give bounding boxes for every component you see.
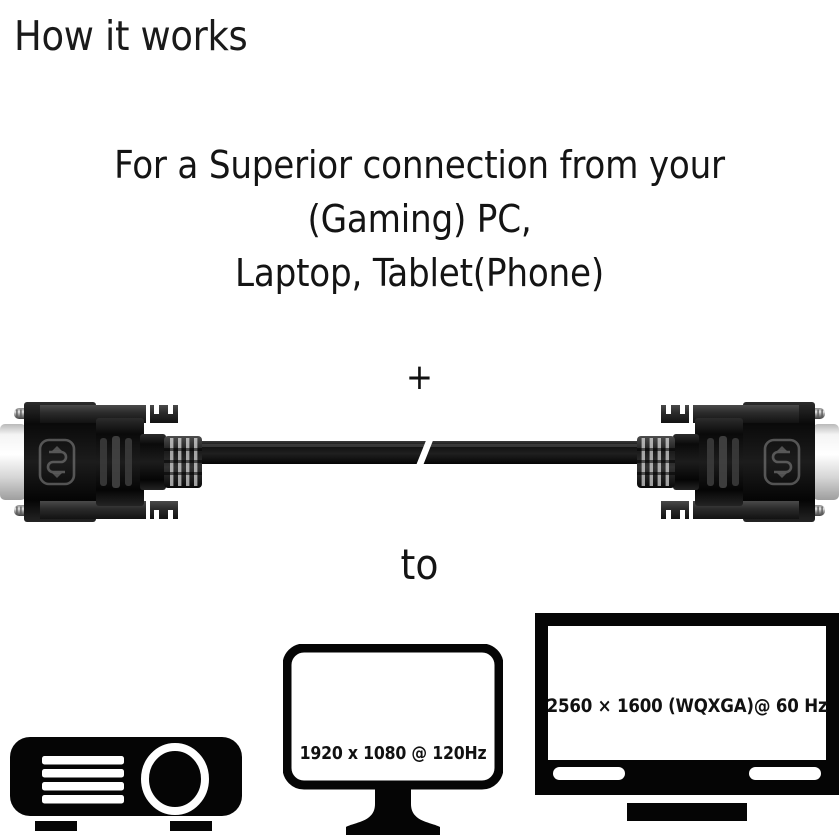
monitor-icon: 1920 x 1080 @ 120Hz — [283, 644, 503, 835]
monitor-graphic — [283, 644, 503, 835]
tv-graphic — [535, 613, 839, 835]
intro-paragraph: For a Superior connection from your (Gam… — [0, 138, 839, 300]
intro-line-2: (Gaming) PC, — [0, 192, 839, 246]
monitor-resolution-label: 1920 x 1080 @ 120Hz — [283, 744, 503, 764]
tv-speaker-right — [749, 767, 821, 780]
dvi-cable-graphic — [0, 388, 839, 536]
to-label: to — [0, 540, 839, 590]
dvi-cable-assembly — [0, 388, 839, 536]
intro-line-1: For a Superior connection from your — [0, 138, 839, 192]
tv-speaker-left — [553, 767, 625, 780]
tv-stand-bar — [627, 803, 747, 821]
monitor-bezel — [287, 648, 499, 785]
projector-graphic — [10, 737, 242, 835]
output-devices-row: 1920 x 1080 @ 120Hz 2560 × 1600 (WQXGA)@… — [0, 600, 839, 839]
intro-line-3: Laptop, Tablet(Phone) — [0, 246, 839, 300]
tv-screen — [548, 626, 826, 760]
projector-foot-left — [35, 821, 77, 831]
page-title: How it works — [14, 12, 247, 60]
dvi-connector-right — [637, 402, 839, 522]
monitor-stand-base — [346, 804, 440, 835]
tv-icon: 2560 × 1600 (WQXGA)@ 60 Hz — [535, 613, 839, 835]
tv-resolution-label: 2560 × 1600 (WQXGA)@ 60 Hz — [535, 696, 839, 717]
dvi-connector-left — [0, 402, 202, 522]
projector-foot-right — [170, 821, 212, 831]
how-it-works-infographic: How it works For a Superior connection f… — [0, 0, 839, 839]
projector-icon — [10, 737, 242, 835]
